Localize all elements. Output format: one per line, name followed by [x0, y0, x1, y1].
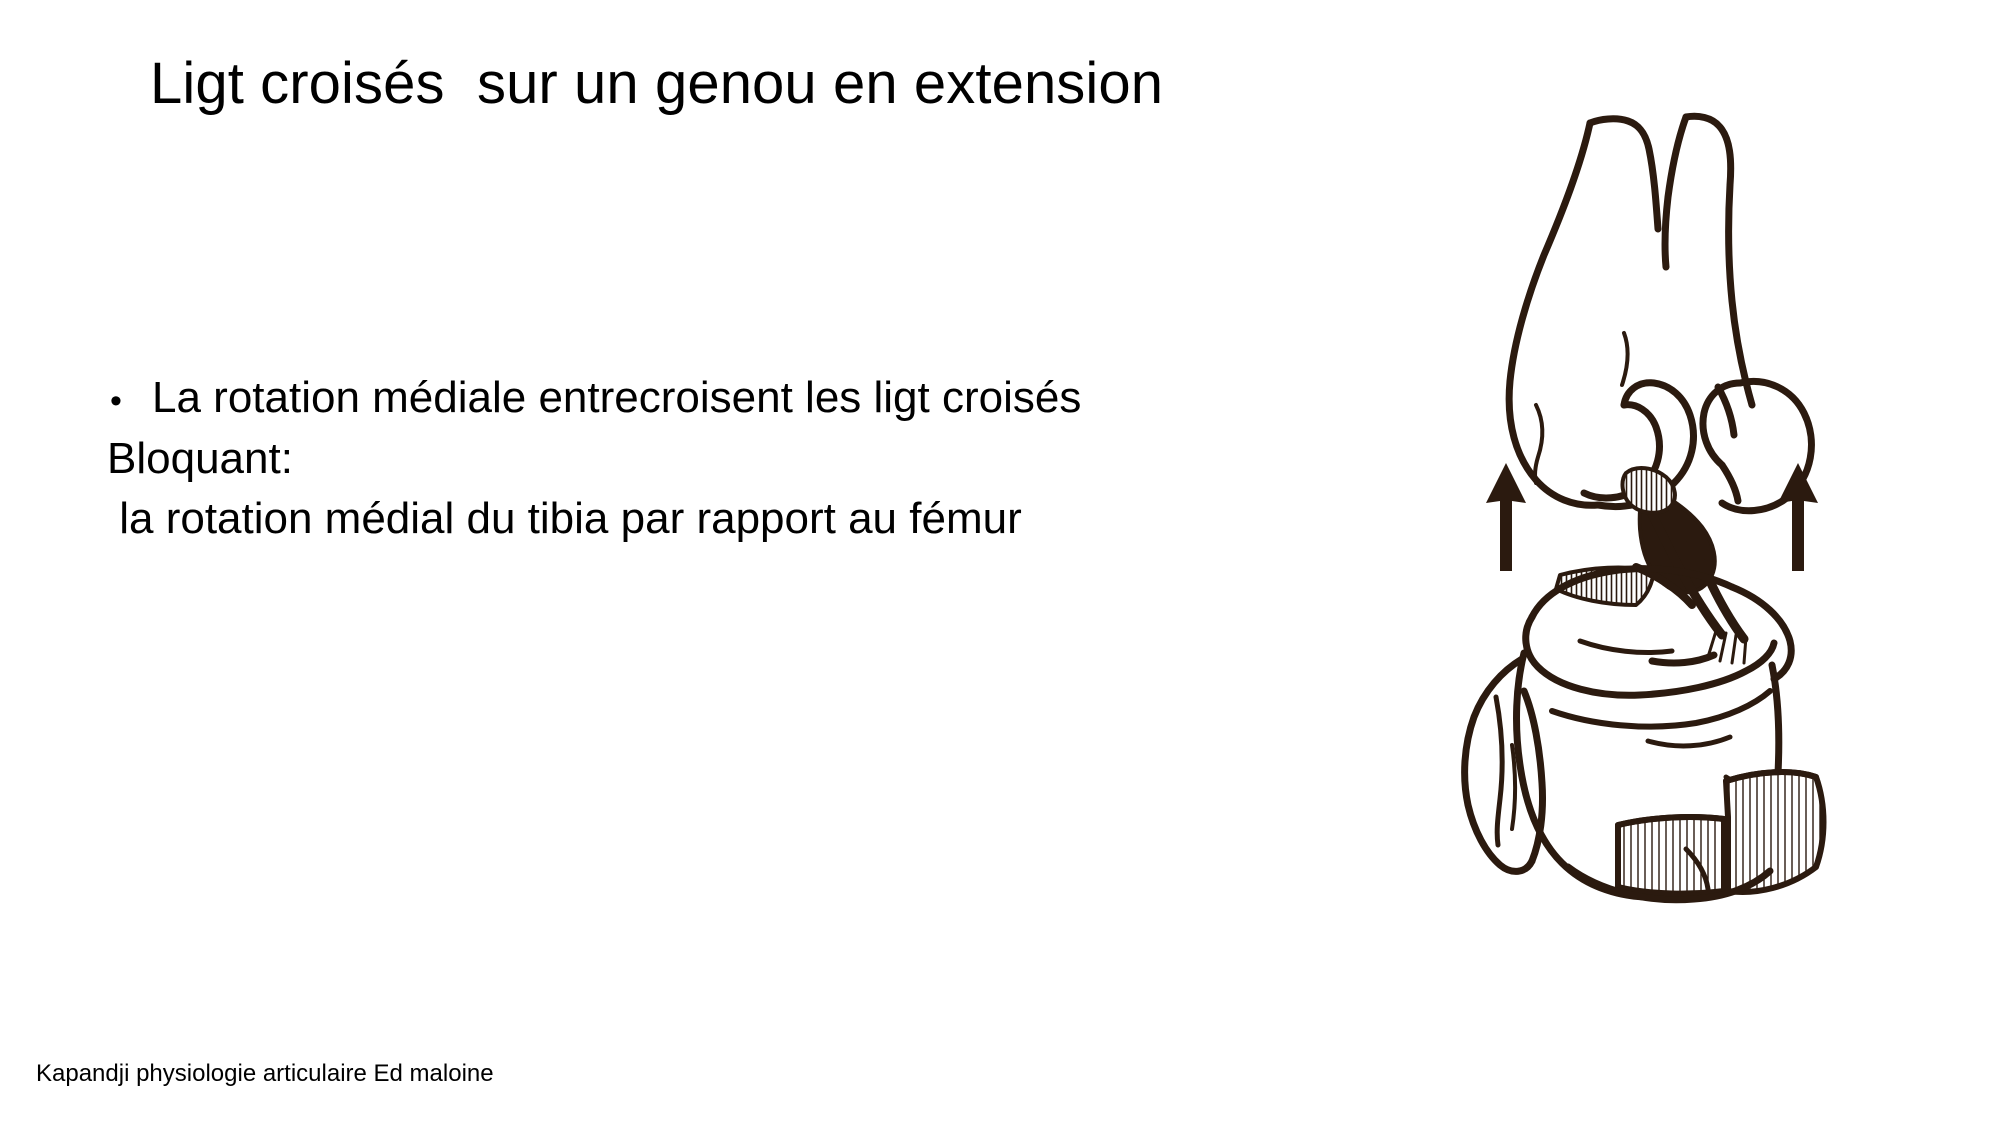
arrow-up-right — [1778, 463, 1818, 571]
slide-canvas: Ligt croisés sur un genou en extension •… — [0, 0, 2000, 1125]
knee-joint-illustration — [1440, 105, 1870, 975]
body-line-bloquant: Bloquant: — [96, 429, 1376, 490]
source-credit: Kapandji physiologie articulaire Ed malo… — [36, 1060, 494, 1088]
bullet-icon: • — [96, 384, 152, 418]
femoral-condyles — [1584, 381, 1811, 510]
list-item: • La rotation médiale entrecroisent les … — [96, 368, 1376, 429]
body-line-rotation-detail: la rotation médial du tibia par rapport … — [96, 489, 1376, 550]
list-item-label: La rotation médiale entrecroisent les li… — [152, 368, 1081, 429]
arrow-up-left — [1486, 463, 1526, 571]
knee-diagram-svg — [1440, 105, 1870, 975]
fibula-head — [1465, 659, 1543, 871]
body-text-block: • La rotation médiale entrecroisent les … — [96, 368, 1376, 550]
femur-detail-lines — [1535, 333, 1628, 483]
tibial-plateau — [1526, 569, 1791, 696]
collateral-ligament-bands — [1618, 772, 1824, 894]
page-title: Ligt croisés sur un genou en extension — [150, 52, 1410, 117]
femur-outline — [1509, 116, 1752, 505]
